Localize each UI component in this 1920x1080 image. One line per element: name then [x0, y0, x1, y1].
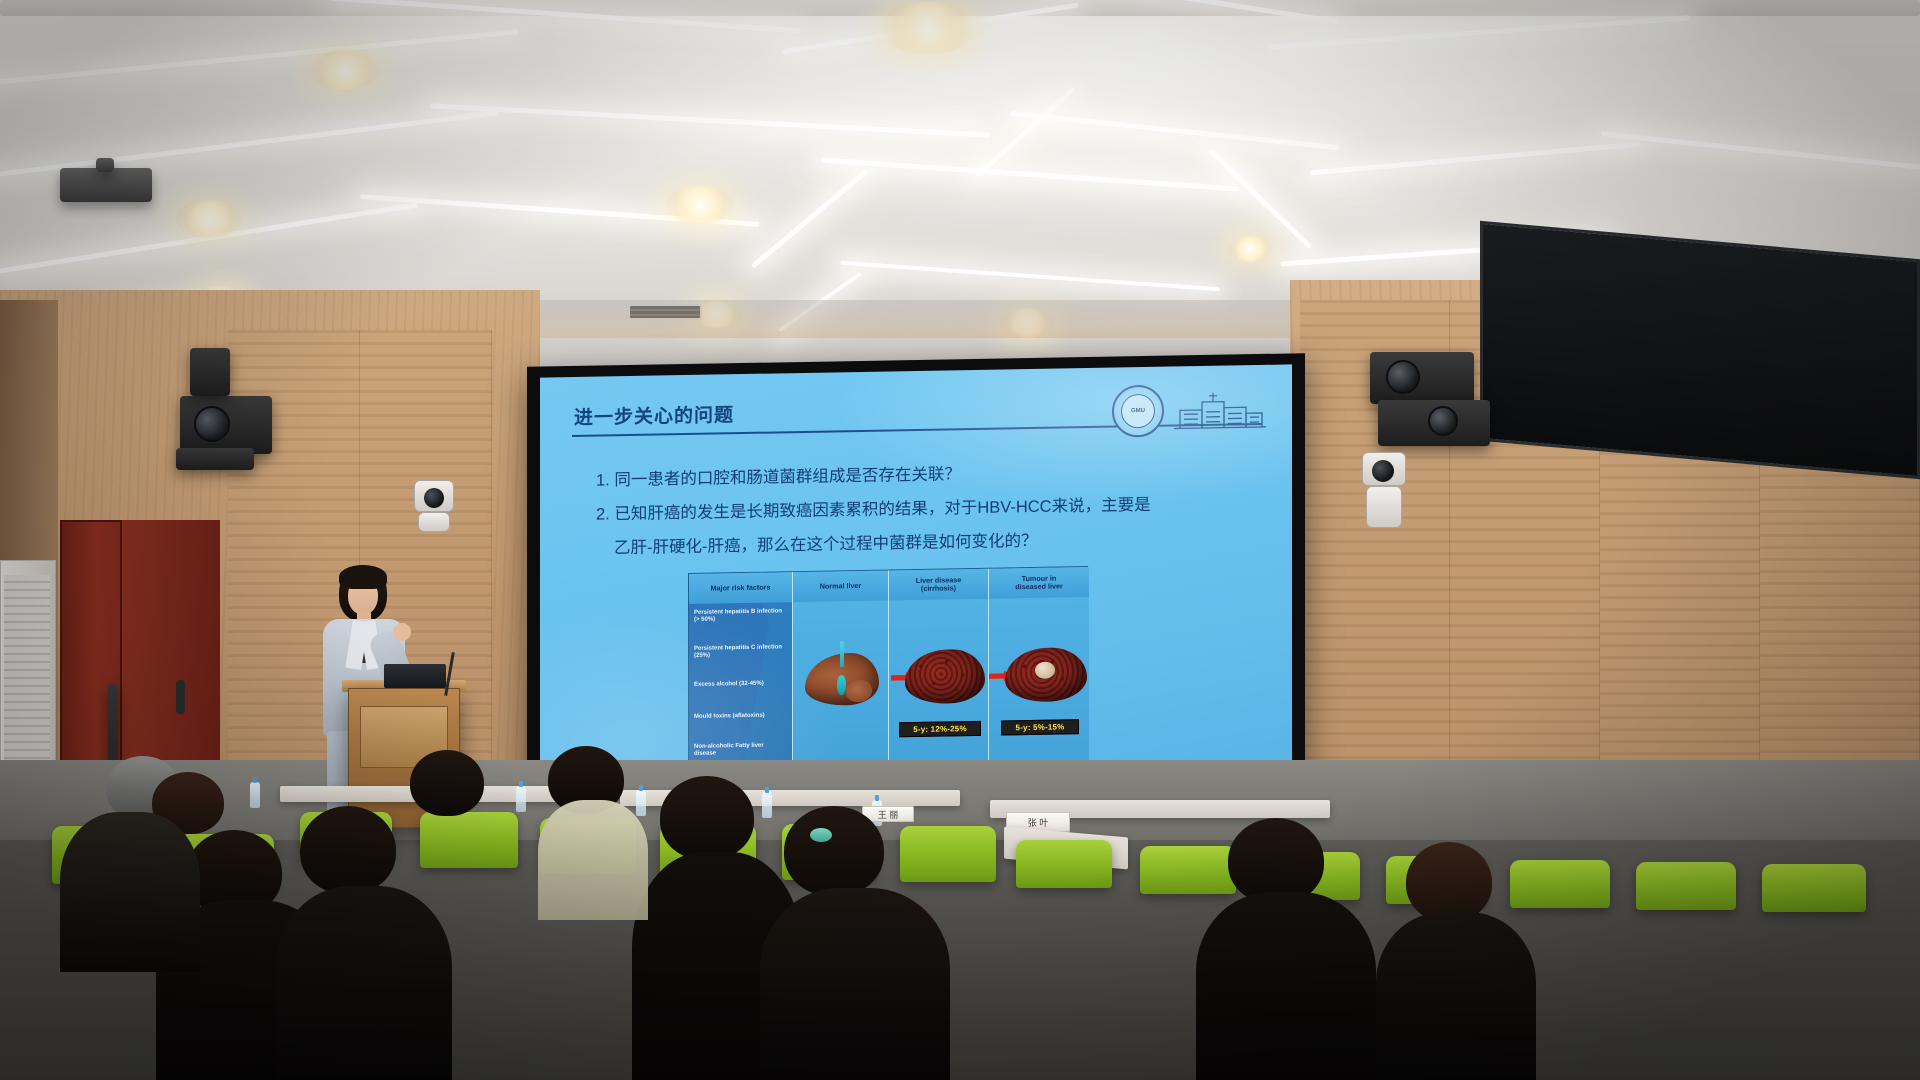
- audience-head: [300, 806, 396, 894]
- slide-question-1: 1. 同一患者的口腔和肠道菌群组成是否存在关联？: [596, 460, 961, 490]
- audience-head: [784, 806, 884, 896]
- cirrhotic-liver-panel: 5-y: 12%-25%: [889, 599, 989, 773]
- slide-title: 进一步关心的问题: [574, 400, 734, 430]
- survival-badge-cirrhosis: 5-y: 12%-25%: [899, 721, 981, 737]
- wall-mounted-display: [1480, 221, 1920, 479]
- figure-header-major-risk-factors: Major risk factors: [689, 572, 793, 604]
- audience-shoulders: [760, 888, 950, 1080]
- ac-louvers: [4, 575, 50, 785]
- audience-shoulders: [538, 800, 648, 920]
- tumour-liver-illustration: [1005, 647, 1087, 702]
- figure-body: Persistent hepatitis B infection (> 50%)…: [689, 597, 1089, 776]
- liver-progression-figure: Major risk factors Normal liver Liver di…: [688, 566, 1088, 775]
- audience-shoulders: [60, 812, 200, 972]
- water-bottle[interactable]: [636, 790, 646, 816]
- risk-factor-item: Persistent hepatitis B infection (> 50%): [694, 608, 786, 624]
- water-bottle[interactable]: [250, 782, 260, 808]
- stage-light-lens: [1386, 360, 1420, 394]
- gallbladder-illustration: [837, 675, 846, 695]
- slide-question-2-cont: 乙肝-肝硬化-肝癌，那么在这个过程中菌群是如何变化的？: [614, 527, 1038, 558]
- bile-duct-illustration: [840, 641, 844, 667]
- stage-light-lens: [194, 406, 230, 442]
- figure-header-text: Normal liver: [820, 582, 862, 591]
- risk-factor-item: Persistent hepatitis C infection (25%): [694, 644, 786, 660]
- auditorium-chair[interactable]: [1510, 860, 1610, 908]
- auditorium-chair[interactable]: [900, 826, 996, 882]
- water-bottle[interactable]: [762, 792, 772, 818]
- stage-light-lens: [1428, 406, 1458, 436]
- university-wordmark-icon: [1172, 387, 1268, 433]
- auditorium-chair[interactable]: [1762, 864, 1866, 912]
- figure-header-liver-disease: Liver disease (cirrhosis): [889, 569, 989, 601]
- stage-light-base: [176, 448, 254, 470]
- projection-screen: 进一步关心的问题 GMU 1. 同一患者的: [540, 364, 1292, 797]
- figure-header-text: Major risk factors: [711, 583, 771, 592]
- audience-head: [1406, 842, 1492, 922]
- figure-header-tumour: Tumour in diseased liver: [989, 567, 1089, 599]
- recessed-downlight: [880, 2, 976, 54]
- cirrhotic-liver-illustration: [905, 649, 985, 704]
- camera-mount: [418, 512, 450, 532]
- figure-header-subtext: (cirrhosis): [916, 584, 962, 593]
- audience-shoulders: [276, 886, 452, 1080]
- audience-head: [410, 750, 484, 816]
- audience-shoulders: [1376, 912, 1536, 1080]
- stage-light-arm: [190, 348, 230, 396]
- auditorium-chair[interactable]: [1636, 862, 1736, 910]
- figure-header-subtext: diseased liver: [1015, 582, 1063, 591]
- recessed-downlight: [666, 186, 734, 224]
- audience-shoulders: [1196, 892, 1376, 1080]
- lecture-hall-scene: 进一步关心的问题 GMU 1. 同一患者的: [0, 0, 1920, 1080]
- recessed-downlight: [1228, 236, 1272, 262]
- seal-inner-text: GMU: [1121, 394, 1155, 429]
- university-seal-logo: GMU: [1112, 385, 1164, 438]
- presenter-hand: [393, 623, 411, 641]
- risk-factor-item: Non-alcoholic Fatty liver disease: [694, 742, 786, 758]
- auditorium-chair[interactable]: [1140, 846, 1236, 894]
- slide-question-2: 2. 已知肝癌的发生是长期致癌因素累积的结果，对于HBV-HCC来说，主要是: [596, 491, 1151, 525]
- hair-scrunchie: [810, 828, 832, 842]
- door-handle[interactable]: [176, 680, 185, 714]
- projector-mount: [96, 158, 114, 172]
- risk-factors-column: Persistent hepatitis B infection (> 50%)…: [689, 602, 793, 776]
- presenter-fringe: [339, 565, 387, 589]
- ceiling-projector: [60, 168, 152, 202]
- survival-badge-tumour: 5-y: 5%-15%: [1001, 719, 1079, 735]
- normal-liver-panel: [793, 600, 889, 774]
- tumour-liver-panel: 5-y: 5%-15%: [989, 597, 1089, 771]
- tumour-nodule: [1035, 662, 1055, 679]
- figure-header-normal-liver: Normal liver: [793, 570, 889, 602]
- auditorium-chair[interactable]: [420, 812, 518, 868]
- camera-lens: [1372, 460, 1394, 482]
- auditorium-chair[interactable]: [1016, 840, 1112, 888]
- camera-lens: [424, 488, 444, 508]
- recessed-downlight: [310, 50, 380, 90]
- camera-mount: [1366, 486, 1402, 528]
- recessed-downlight: [176, 200, 242, 238]
- water-bottle[interactable]: [516, 786, 526, 812]
- lectern-laptop[interactable]: [384, 664, 446, 688]
- audience-head: [660, 776, 754, 860]
